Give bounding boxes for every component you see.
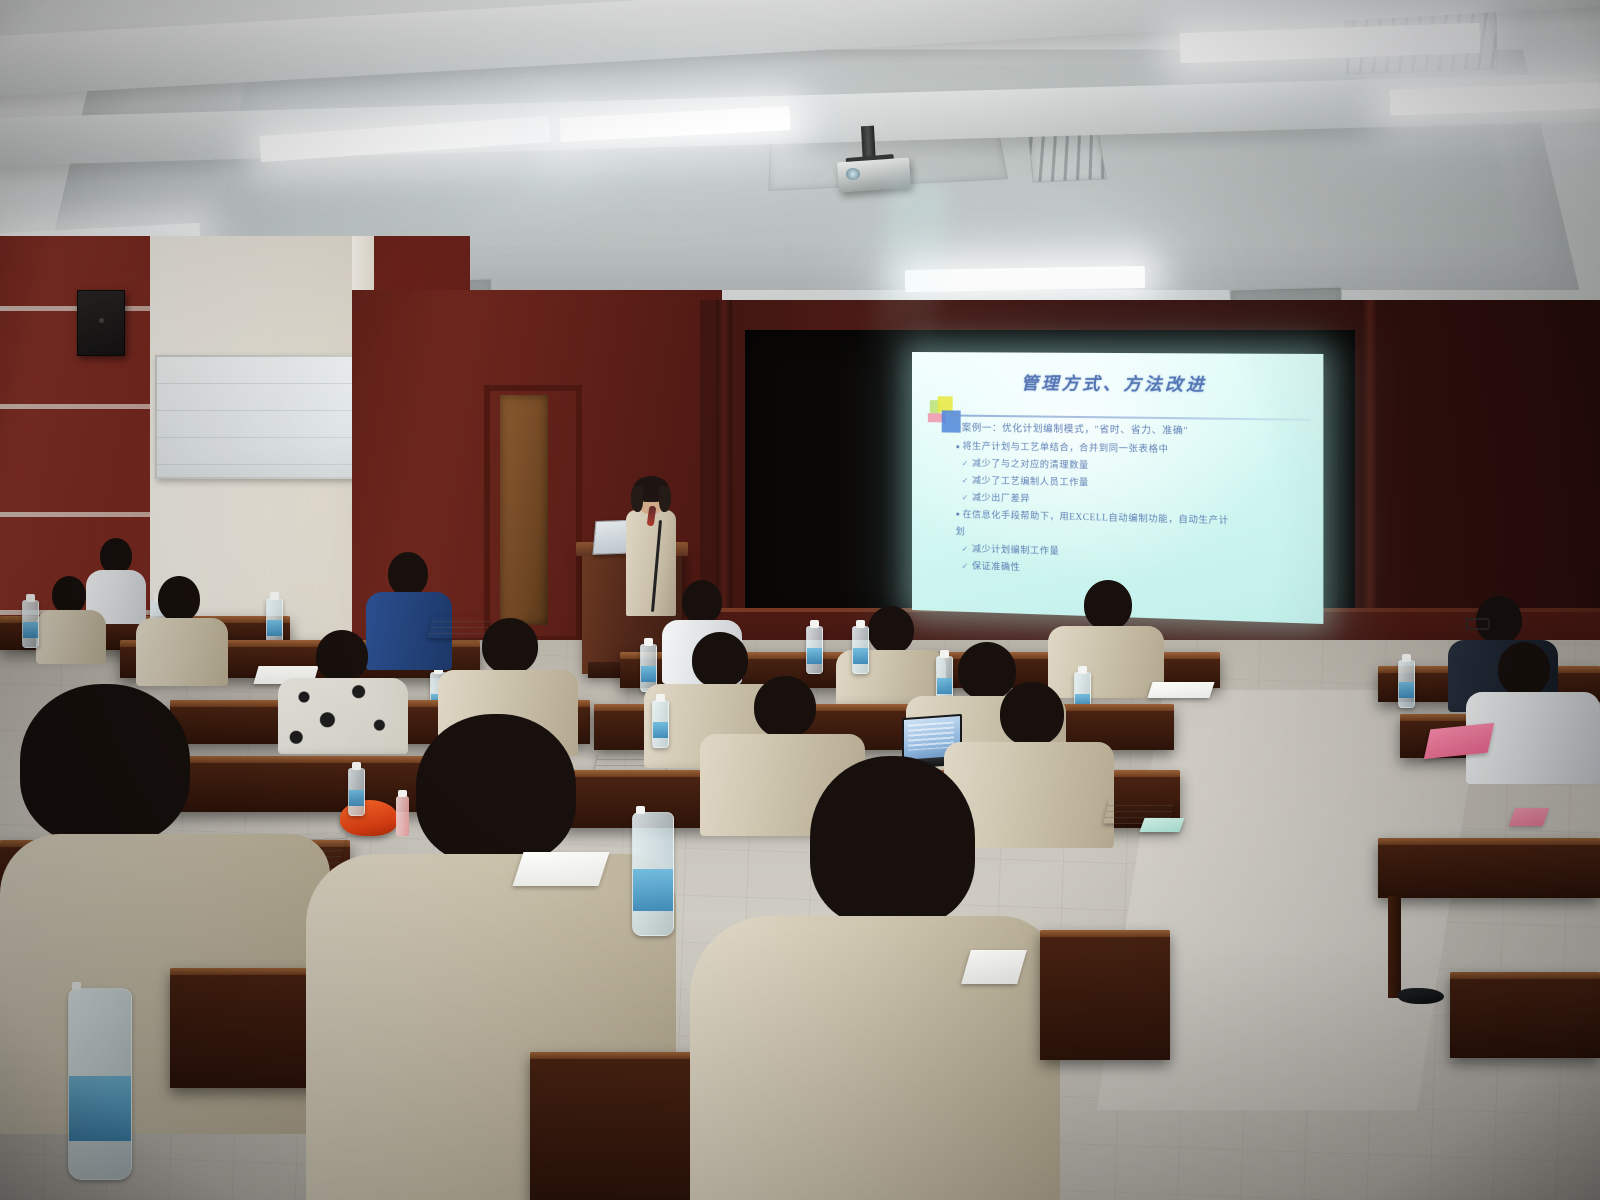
attendee	[36, 576, 106, 660]
water-bottle	[806, 626, 823, 674]
slide-bullet: 减少了与之对应的清理数量	[962, 459, 1313, 475]
ceiling-light-panel	[905, 266, 1145, 292]
attendee	[1466, 642, 1600, 778]
pink-document	[1509, 808, 1550, 826]
water-bottle	[22, 600, 39, 648]
whiteboard-surface	[157, 357, 352, 477]
desk-row	[1378, 838, 1600, 898]
presenter-hair	[631, 486, 643, 512]
slide-bullet: 在信息化手段帮助下，用EXCELL自动编制功能，自动生产计	[956, 510, 1313, 528]
water-bottle	[68, 988, 132, 1180]
attendee	[136, 576, 228, 676]
slide-title: 管理方式、方法改进	[912, 368, 1323, 397]
attendee-foreground	[0, 684, 330, 984]
water-bottle	[1398, 660, 1415, 708]
slide-bullet: 保证准确性	[962, 561, 1313, 581]
wall-panel-column	[1362, 300, 1378, 640]
water-bottle	[852, 626, 869, 674]
presenter-hair	[659, 486, 671, 512]
wall-speaker-icon	[77, 290, 125, 356]
slide-body: 案例一：优化计划编制模式，"省时、省力、准确" 将生产计划与工艺单结合，合并到同…	[956, 425, 1313, 590]
water-bottle	[632, 812, 674, 936]
slide-bullet: 减少了工艺编制人员工作量	[962, 476, 1313, 492]
notebook	[512, 852, 609, 886]
slide-bullet: 将生产计划与工艺单结合，合并到同一张表格中	[956, 442, 1313, 457]
document-sheet	[961, 950, 1027, 984]
desk-row	[1040, 930, 1170, 1060]
whiteboard	[155, 355, 354, 479]
document-sheet	[1147, 682, 1214, 698]
slide-bullet: 减少出厂差异	[962, 493, 1313, 510]
eyeglasses-icon	[1466, 618, 1490, 630]
slide-divider	[950, 414, 1311, 420]
desk-row	[1450, 972, 1600, 1058]
conference-room-photo: 管理方式、方法改进 案例一：优化计划编制模式，"省时、省力、准确" 将生产计划与…	[0, 0, 1600, 1200]
slide-bullet-continuation: 划	[956, 527, 1313, 546]
attendee-foreground	[306, 714, 676, 1104]
slide-lead-line: 案例一：优化计划编制模式，"省时、省力、准确"	[962, 425, 1313, 440]
wooden-door[interactable]	[500, 395, 548, 625]
desk-leg	[1388, 896, 1401, 998]
mint-document	[1139, 818, 1184, 832]
shoe	[1398, 988, 1444, 1004]
slide-bullet: 减少计划编制工作量	[962, 544, 1313, 563]
